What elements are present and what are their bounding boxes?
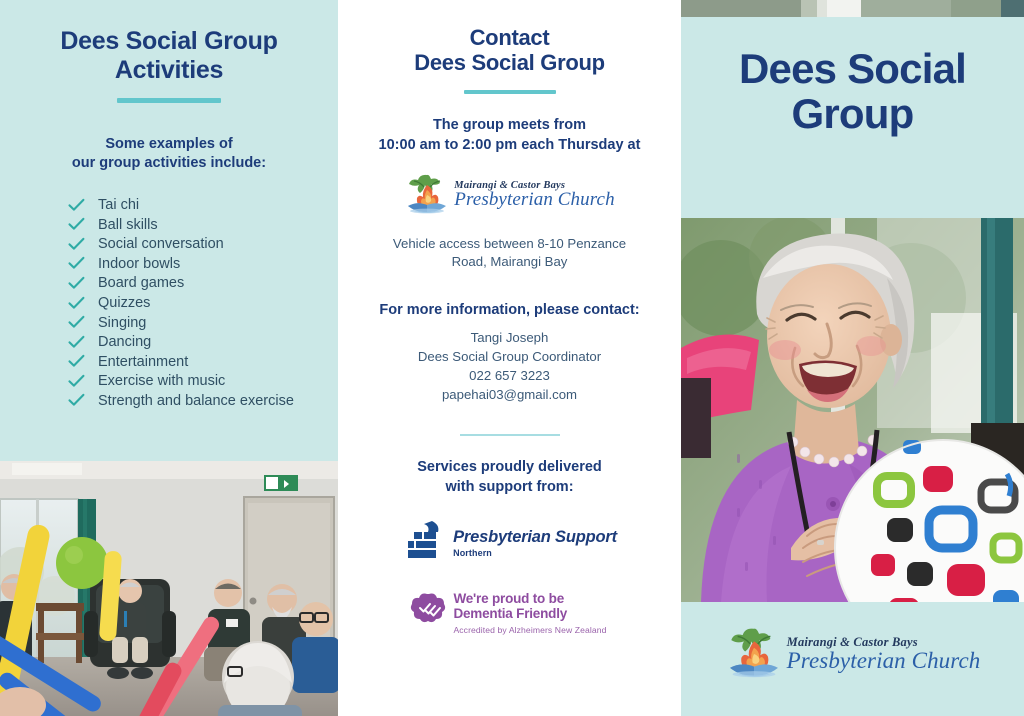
cover-title: Dees Social Group [681, 46, 1024, 137]
check-icon [68, 355, 85, 368]
list-item: Entertainment [68, 352, 338, 372]
access-line1: Vehicle access between 8-10 Penzance [386, 235, 633, 254]
presbyterian-support-northern-logo: Presbyterian Support Northern [338, 519, 681, 566]
church-flame-tree-icon [725, 625, 783, 683]
support-heading: Services proudly delivered with support … [338, 458, 681, 497]
check-icon [68, 336, 85, 349]
list-item: Quizzes [68, 293, 338, 313]
more-information-heading: For more information, please contact: [338, 302, 681, 318]
access-line2: Road, Mairangi Bay [386, 253, 633, 272]
list-item: Board games [68, 274, 338, 294]
check-icon [68, 297, 85, 310]
activity-label: Ball skills [98, 217, 158, 233]
check-icon [68, 316, 85, 329]
check-icon [68, 257, 85, 270]
activity-label: Social conversation [98, 236, 224, 252]
check-icon [68, 375, 85, 388]
list-item: Singing [68, 313, 338, 333]
support-heading-line1: Services proudly delivered [338, 458, 681, 478]
list-item: Tai chi [68, 195, 338, 215]
left-subheading-line2: our group activities include: [0, 154, 338, 173]
left-panel-activities: Dees Social Group Activities Some exampl… [0, 0, 338, 716]
list-item: Dancing [68, 332, 338, 352]
list-item: Strength and balance exercise [68, 391, 338, 411]
right-panel-cover: Dees Social Group [681, 0, 1024, 716]
contact-role: Dees Social Group Coordinator [338, 347, 681, 366]
contact-email[interactable]: papehai03@gmail.com [338, 385, 681, 404]
brochure-page: Dees Social Group Activities Some exampl… [0, 0, 1024, 716]
list-item: Ball skills [68, 215, 338, 235]
left-heading-line1: Dees Social Group [0, 27, 338, 56]
left-subheading-line1: Some examples of [0, 135, 338, 154]
list-item: Exercise with music [68, 372, 338, 392]
left-heading-rule [117, 98, 221, 103]
activity-label: Strength and balance exercise [98, 393, 294, 409]
presbyterian-support-stairs-icon [402, 519, 444, 566]
contact-name: Tangi Joseph [338, 328, 681, 347]
left-panel-heading: Dees Social Group Activities [0, 0, 338, 84]
mairangi-castor-bays-presbyterian-church-logo: Mairangi & Castor Bays Presbyterian Chur… [681, 625, 1024, 683]
vehicle-access-note: Vehicle access between 8-10 Penzance Roa… [338, 235, 681, 272]
activity-label: Dancing [98, 334, 151, 350]
activity-label: Entertainment [98, 354, 188, 370]
contact-heading-line1: Contact [338, 25, 681, 50]
meeting-line2: 10:00 am to 2:00 pm each Thursday at [346, 135, 673, 155]
list-item: Social conversation [68, 234, 338, 254]
support-heading-line2: with support from: [338, 478, 681, 498]
church-logo-line2: Presbyterian Church [454, 189, 614, 211]
cover-title-line2: Group [681, 91, 1024, 136]
meeting-line1: The group meets from [346, 115, 673, 135]
contact-phone[interactable]: 022 657 3223 [338, 366, 681, 385]
left-heading-line2: Activities [0, 56, 338, 85]
support-divider [338, 434, 681, 436]
check-icon [68, 199, 85, 212]
church-logo-line2: Presbyterian Church [787, 648, 981, 674]
dementia-friendly-flower-icon [412, 593, 446, 630]
ps-logo-main: Presbyterian Support [453, 528, 617, 547]
contact-heading-line2: Dees Social Group [338, 50, 681, 75]
df-logo-line1: We're proud to be [453, 592, 606, 607]
activity-label: Exercise with music [98, 373, 225, 389]
top-photo-strip [681, 0, 1024, 17]
check-icon [68, 218, 85, 231]
df-logo-accreditation: Accredited by Alzheimers New Zealand [453, 625, 606, 635]
meeting-times: The group meets from 10:00 am to 2:00 pm… [338, 115, 681, 156]
activity-label: Board games [98, 275, 184, 291]
contact-heading-rule [464, 90, 556, 94]
activity-label: Quizzes [98, 295, 150, 311]
df-logo-line2: Dementia Friendly [453, 607, 606, 622]
church-flame-tree-icon [404, 172, 450, 219]
cover-title-line1: Dees Social [681, 46, 1024, 91]
mairangi-castor-bays-presbyterian-church-logo: Mairangi & Castor Bays Presbyterian Chur… [338, 172, 681, 219]
activity-list: Tai chi Ball skills Social conversation … [0, 195, 338, 411]
cover-photo [681, 218, 1024, 602]
middle-panel-contact: Contact Dees Social Group The group meet… [338, 0, 681, 716]
contact-heading: Contact Dees Social Group [338, 0, 681, 75]
left-panel-subheading: Some examples of our group activities in… [0, 135, 338, 173]
dementia-friendly-logo: We're proud to be Dementia Friendly Accr… [338, 592, 681, 635]
check-icon [68, 238, 85, 251]
check-icon [68, 394, 85, 407]
activity-label: Singing [98, 315, 146, 331]
activities-photo [0, 461, 338, 716]
check-icon [68, 277, 85, 290]
ps-logo-sub: Northern [453, 548, 617, 558]
list-item: Indoor bowls [68, 254, 338, 274]
activity-label: Indoor bowls [98, 256, 180, 272]
contact-details: Tangi Joseph Dees Social Group Coordinat… [338, 328, 681, 404]
activity-label: Tai chi [98, 197, 139, 213]
